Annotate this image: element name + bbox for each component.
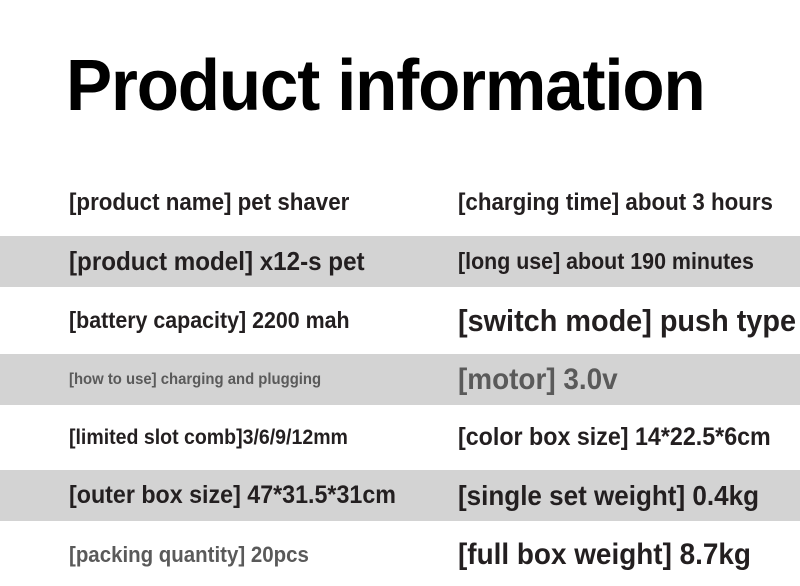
table-row: [product name] pet shaver [charging time… xyxy=(0,177,800,228)
spec-outer-box-size: [outer box size] 47*31.5*31cm xyxy=(69,470,396,521)
table-row: [limited slot comb]3/6/9/12mm [color box… xyxy=(0,412,800,463)
spec-motor: [motor] 3.0v xyxy=(458,354,618,405)
spec-switch-mode: [switch mode] push type xyxy=(458,295,796,346)
spec-long-use: [long use] about 190 minutes xyxy=(458,236,754,287)
spec-how-to-use: [how to use] charging and plugging xyxy=(69,354,321,405)
spec-product-model: [product model] x12-s pet xyxy=(69,236,365,287)
spec-battery-capacity: [battery capacity] 2200 mah xyxy=(69,295,350,346)
spec-color-box-size: [color box size] 14*22.5*6cm xyxy=(458,412,771,463)
spec-full-box-weight: [full box weight] 8.7kg xyxy=(458,529,751,580)
table-row: [outer box size] 47*31.5*31cm [single se… xyxy=(0,470,800,521)
table-row: [battery capacity] 2200 mah [switch mode… xyxy=(0,295,800,346)
table-row: [packing quantity] 20pcs [full box weigh… xyxy=(0,529,800,580)
spec-product-name: [product name] pet shaver xyxy=(69,177,349,228)
spec-single-set-weight: [single set weight] 0.4kg xyxy=(458,470,759,521)
page-title: Product information xyxy=(66,44,738,128)
spec-charging-time: [charging time] about 3 hours xyxy=(458,177,773,228)
product-information-page: Product information [product name] pet s… xyxy=(0,0,800,586)
spec-limited-slot-comb: [limited slot comb]3/6/9/12mm xyxy=(69,412,348,463)
table-row: [how to use] charging and plugging [moto… xyxy=(0,354,800,405)
spec-packing-quantity: [packing quantity] 20pcs xyxy=(69,529,309,580)
table-row: [product model] x12-s pet [long use] abo… xyxy=(0,236,800,287)
